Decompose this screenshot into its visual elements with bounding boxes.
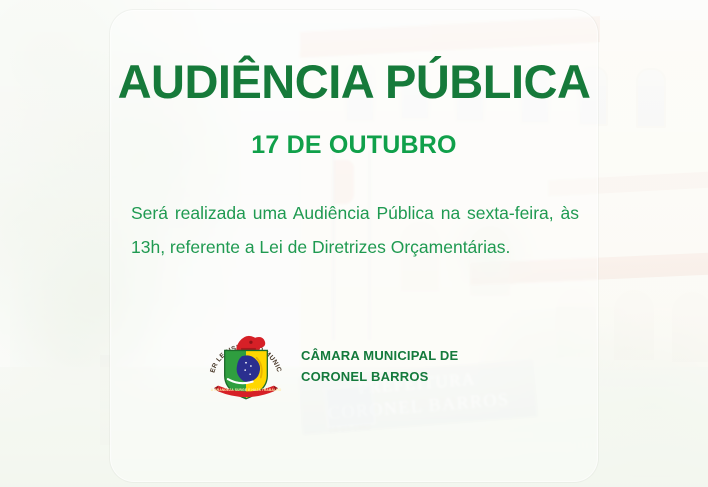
svg-text:A GRANDEZA SURGE E HAJA TRABAL: A GRANDEZA SURGE E HAJA TRABALHO bbox=[211, 388, 282, 392]
organization-name-line-1: CÂMARA MUNICIPAL DE bbox=[301, 348, 458, 363]
coat-of-arms-icon: PODER LEGISLATIVO MUNICIPAL bbox=[205, 325, 287, 407]
announcement-poster: PREFEITURA CORONEL BARROS 10-03-1992 AUD… bbox=[0, 0, 708, 487]
page-title: AUDIÊNCIA PÚBLICA bbox=[0, 58, 708, 105]
announcement-body: Será realizada uma Audiência Pública na … bbox=[131, 196, 579, 264]
event-date-subtitle: 17 DE OUTUBRO bbox=[0, 133, 708, 158]
organization-name-line-2: CORONEL BARROS bbox=[301, 369, 429, 384]
organization-name: CÂMARA MUNICIPAL DE CORONEL BARROS bbox=[301, 345, 458, 388]
footer-branding: PODER LEGISLATIVO MUNICIPAL bbox=[205, 325, 458, 407]
poster-content: AUDIÊNCIA PÚBLICA 17 DE OUTUBRO Será rea… bbox=[0, 0, 708, 487]
